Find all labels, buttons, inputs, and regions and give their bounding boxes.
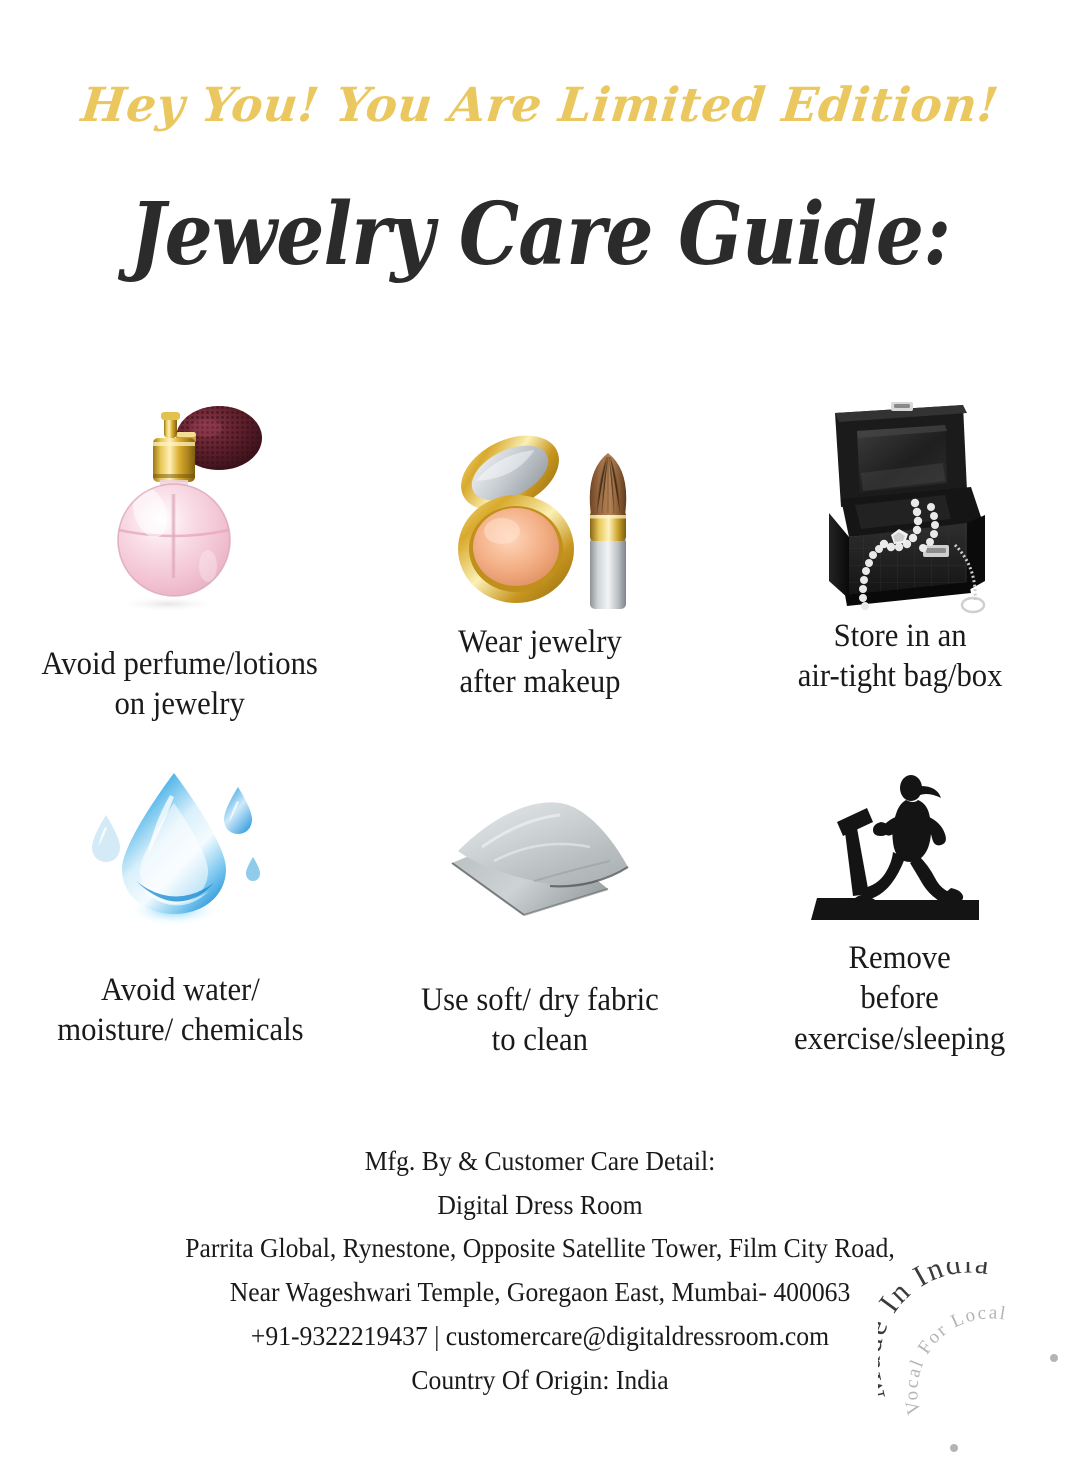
care-tips-grid: Avoid perfume/lotions on jewelry [0,380,1080,1060]
tip-icon-slot [0,740,360,930]
makeup-compact-brush-icon [440,425,640,620]
care-tip-caption: Avoid perfume/lotions on jewelry [42,644,318,725]
badge-inner-text: Vocal For Local [901,1302,1008,1416]
footer-line-heading: Mfg. By & Customer Care Detail: [27,1140,1053,1184]
badge-dot-bottom [950,1444,958,1452]
care-tip-avoid-perfume: Avoid perfume/lotions on jewelry [0,380,360,740]
badge-dot-right [1050,1354,1058,1362]
polishing-cloth-icon [438,789,643,924]
care-tip-avoid-water: Avoid water/ moisture/ chemicals [0,740,360,1060]
made-in-india-badge: Made In India Vocal For Local [878,1262,1074,1458]
care-tip-caption: Avoid water/ moisture/ chemicals [57,970,303,1051]
care-tip-soft-cloth: Use soft/ dry fabric to clean [360,740,720,1060]
care-tip-remove-before-exercise: Remove before exercise/sleeping [720,740,1080,1060]
jewelry-box-icon [795,395,1005,620]
tip-icon-slot [0,380,360,620]
treadmill-runner-icon [803,770,998,930]
tip-icon-slot [360,740,720,924]
care-tip-caption: Remove before exercise/sleeping [794,938,1005,1059]
tagline: Hey You! You Are Limited Edition! [0,78,1080,133]
care-tip-caption: Store in an air-tight bag/box [798,616,1003,697]
tip-icon-slot [720,740,1080,930]
care-tip-caption: Wear jewelry after makeup [458,622,622,703]
tip-icon-slot [360,380,720,620]
page-title: Jewelry Care Guide: [65,192,1015,278]
water-drop-icon [78,765,283,930]
tip-icon-slot [720,380,1080,620]
footer-line-company: Digital Dress Room [27,1184,1053,1228]
care-tip-wear-after-makeup: Wear jewelry after makeup [360,380,720,740]
perfume-bottle-icon [80,390,280,620]
care-tip-store-airtight: Store in an air-tight bag/box [720,380,1080,740]
care-tip-caption: Use soft/ dry fabric to clean [421,980,659,1061]
jewelry-care-guide-page: Hey You! You Are Limited Edition! Jewelr… [0,0,1080,1440]
